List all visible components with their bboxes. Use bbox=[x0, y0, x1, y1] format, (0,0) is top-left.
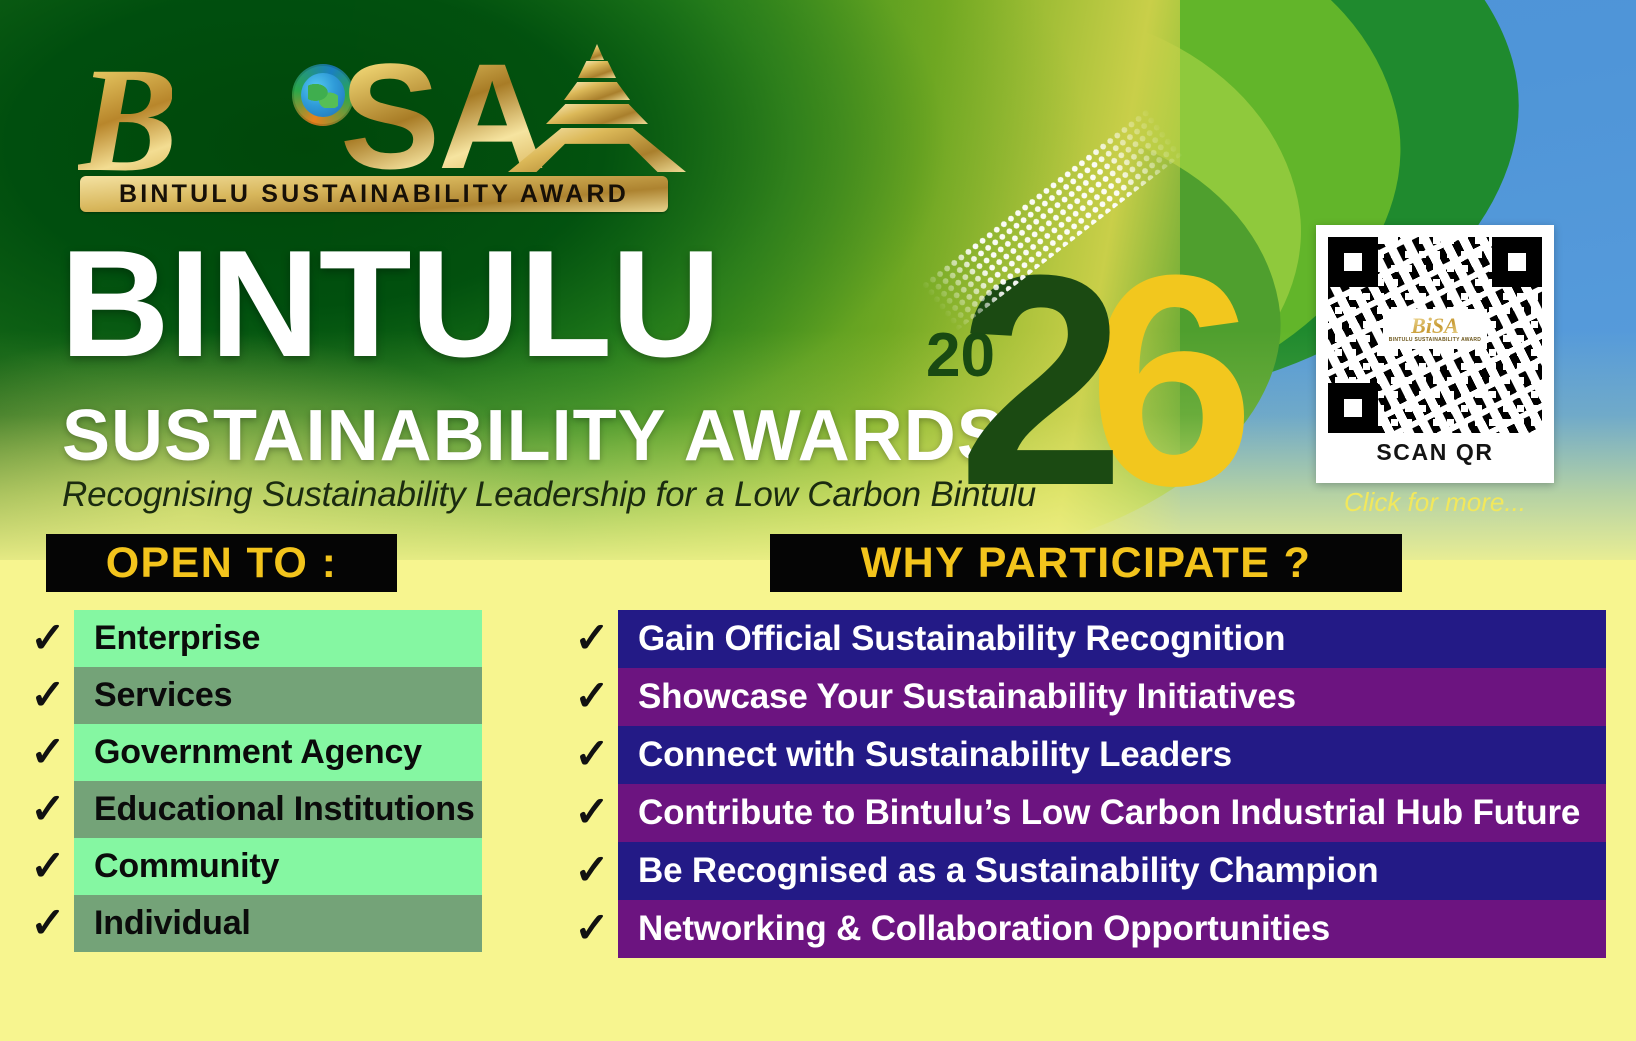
list-item-label: Connect with Sustainability Leaders bbox=[638, 735, 1232, 775]
open-to-header-text: OPEN TO : bbox=[106, 539, 338, 588]
list-item-label: Contribute to Bintulu’s Low Carbon Indus… bbox=[638, 793, 1580, 833]
list-item: ✓ Government Agency bbox=[22, 724, 482, 781]
list-item-label: Networking & Collaboration Opportunities bbox=[638, 909, 1330, 949]
list-item: ✓ Gain Official Sustainability Recogniti… bbox=[566, 610, 1606, 668]
check-icon: ✓ bbox=[22, 789, 74, 831]
list-item-bar: Connect with Sustainability Leaders bbox=[618, 726, 1606, 784]
list-item: ✓ Showcase Your Sustainability Initiativ… bbox=[566, 668, 1606, 726]
list-item: ✓ Connect with Sustainability Leaders bbox=[566, 726, 1606, 784]
list-item: ✓ Enterprise bbox=[22, 610, 482, 667]
check-icon: ✓ bbox=[566, 908, 618, 950]
bisa-logo: B SA BINTULU SUSTAINABILITY AWARD bbox=[72, 24, 682, 214]
list-item: ✓ Be Recognised as a Sustainability Cham… bbox=[566, 842, 1606, 900]
qr-embedded-logo: BiSA BINTULU SUSTAINABILITY AWARD bbox=[1383, 309, 1487, 349]
pyramid-tower-icon bbox=[502, 44, 692, 172]
list-item-label: Community bbox=[94, 847, 279, 886]
list-item-label: Be Recognised as a Sustainability Champi… bbox=[638, 851, 1378, 891]
check-icon: ✓ bbox=[22, 903, 74, 945]
year-prefix: 20 bbox=[926, 320, 995, 391]
logo-banner: BINTULU SUSTAINABILITY AWARD bbox=[80, 176, 668, 212]
qr-finder-top-left bbox=[1328, 237, 1378, 287]
tagline: Recognising Sustainability Leadership fo… bbox=[62, 475, 1036, 515]
list-item-bar: Educational Institutions bbox=[74, 781, 482, 838]
logo-banner-text: BINTULU SUSTAINABILITY AWARD bbox=[119, 180, 629, 209]
check-icon: ✓ bbox=[22, 846, 74, 888]
year-badge: 6 2 20 bbox=[918, 238, 1218, 496]
qr-embedded-logo-caption: BINTULU SUSTAINABILITY AWARD bbox=[1389, 337, 1481, 343]
check-icon: ✓ bbox=[566, 792, 618, 834]
qr-click-for-more-link[interactable]: Click for more... bbox=[1316, 487, 1554, 518]
qr-finder-top-right bbox=[1492, 237, 1542, 287]
check-icon: ✓ bbox=[566, 734, 618, 776]
list-item-label: Gain Official Sustainability Recognition bbox=[638, 619, 1285, 659]
check-icon: ✓ bbox=[566, 618, 618, 660]
list-item: ✓ Networking & Collaboration Opportuniti… bbox=[566, 900, 1606, 958]
list-item: ✓ Contribute to Bintulu’s Low Carbon Ind… bbox=[566, 784, 1606, 842]
check-icon: ✓ bbox=[566, 676, 618, 718]
open-to-list: ✓ Enterprise ✓ Services ✓ Government Age… bbox=[22, 610, 482, 952]
list-item-bar: Networking & Collaboration Opportunities bbox=[618, 900, 1606, 958]
list-item-bar: Services bbox=[74, 667, 482, 724]
qr-embedded-logo-text: BiSA bbox=[1411, 315, 1459, 337]
qr-finder-bottom-left bbox=[1328, 383, 1378, 433]
list-item: ✓ Educational Institutions bbox=[22, 781, 482, 838]
list-item: ✓ Services bbox=[22, 667, 482, 724]
list-item-label: Educational Institutions bbox=[94, 790, 475, 829]
list-item-bar: Enterprise bbox=[74, 610, 482, 667]
list-item-bar: Be Recognised as a Sustainability Champi… bbox=[618, 842, 1606, 900]
check-icon: ✓ bbox=[566, 850, 618, 892]
list-item-bar: Individual bbox=[74, 895, 482, 952]
check-icon: ✓ bbox=[22, 732, 74, 774]
list-item: ✓ Community bbox=[22, 838, 482, 895]
list-item-label: Government Agency bbox=[94, 733, 422, 772]
check-icon: ✓ bbox=[22, 618, 74, 660]
list-item-bar: Government Agency bbox=[74, 724, 482, 781]
qr-code-image[interactable]: BiSA BINTULU SUSTAINABILITY AWARD bbox=[1328, 237, 1542, 433]
qr-code-card[interactable]: BiSA BINTULU SUSTAINABILITY AWARD SCAN Q… bbox=[1316, 225, 1554, 483]
list-item-label: Showcase Your Sustainability Initiatives bbox=[638, 677, 1296, 717]
list-item-label: Services bbox=[94, 676, 232, 715]
page-subtitle: SUSTAINABILITY AWARDS bbox=[62, 400, 1006, 472]
list-item: ✓ Individual bbox=[22, 895, 482, 952]
list-item-bar: Contribute to Bintulu’s Low Carbon Indus… bbox=[618, 784, 1606, 842]
check-icon: ✓ bbox=[22, 675, 74, 717]
why-participate-list: ✓ Gain Official Sustainability Recogniti… bbox=[566, 610, 1606, 958]
qr-scan-label: SCAN QR bbox=[1328, 439, 1542, 466]
bisa-logo-mark: B SA bbox=[72, 24, 682, 169]
list-item-label: Individual bbox=[94, 904, 251, 943]
list-item-bar: Gain Official Sustainability Recognition bbox=[618, 610, 1606, 668]
poster: B SA BINTULU SUSTAINABILITY AWARD BINTUL… bbox=[0, 0, 1636, 1041]
list-item-bar: Showcase Your Sustainability Initiatives bbox=[618, 668, 1606, 726]
list-item-label: Enterprise bbox=[94, 619, 260, 658]
list-item-bar: Community bbox=[74, 838, 482, 895]
page-title: BINTULU bbox=[60, 228, 720, 380]
open-to-header: OPEN TO : bbox=[46, 534, 397, 592]
